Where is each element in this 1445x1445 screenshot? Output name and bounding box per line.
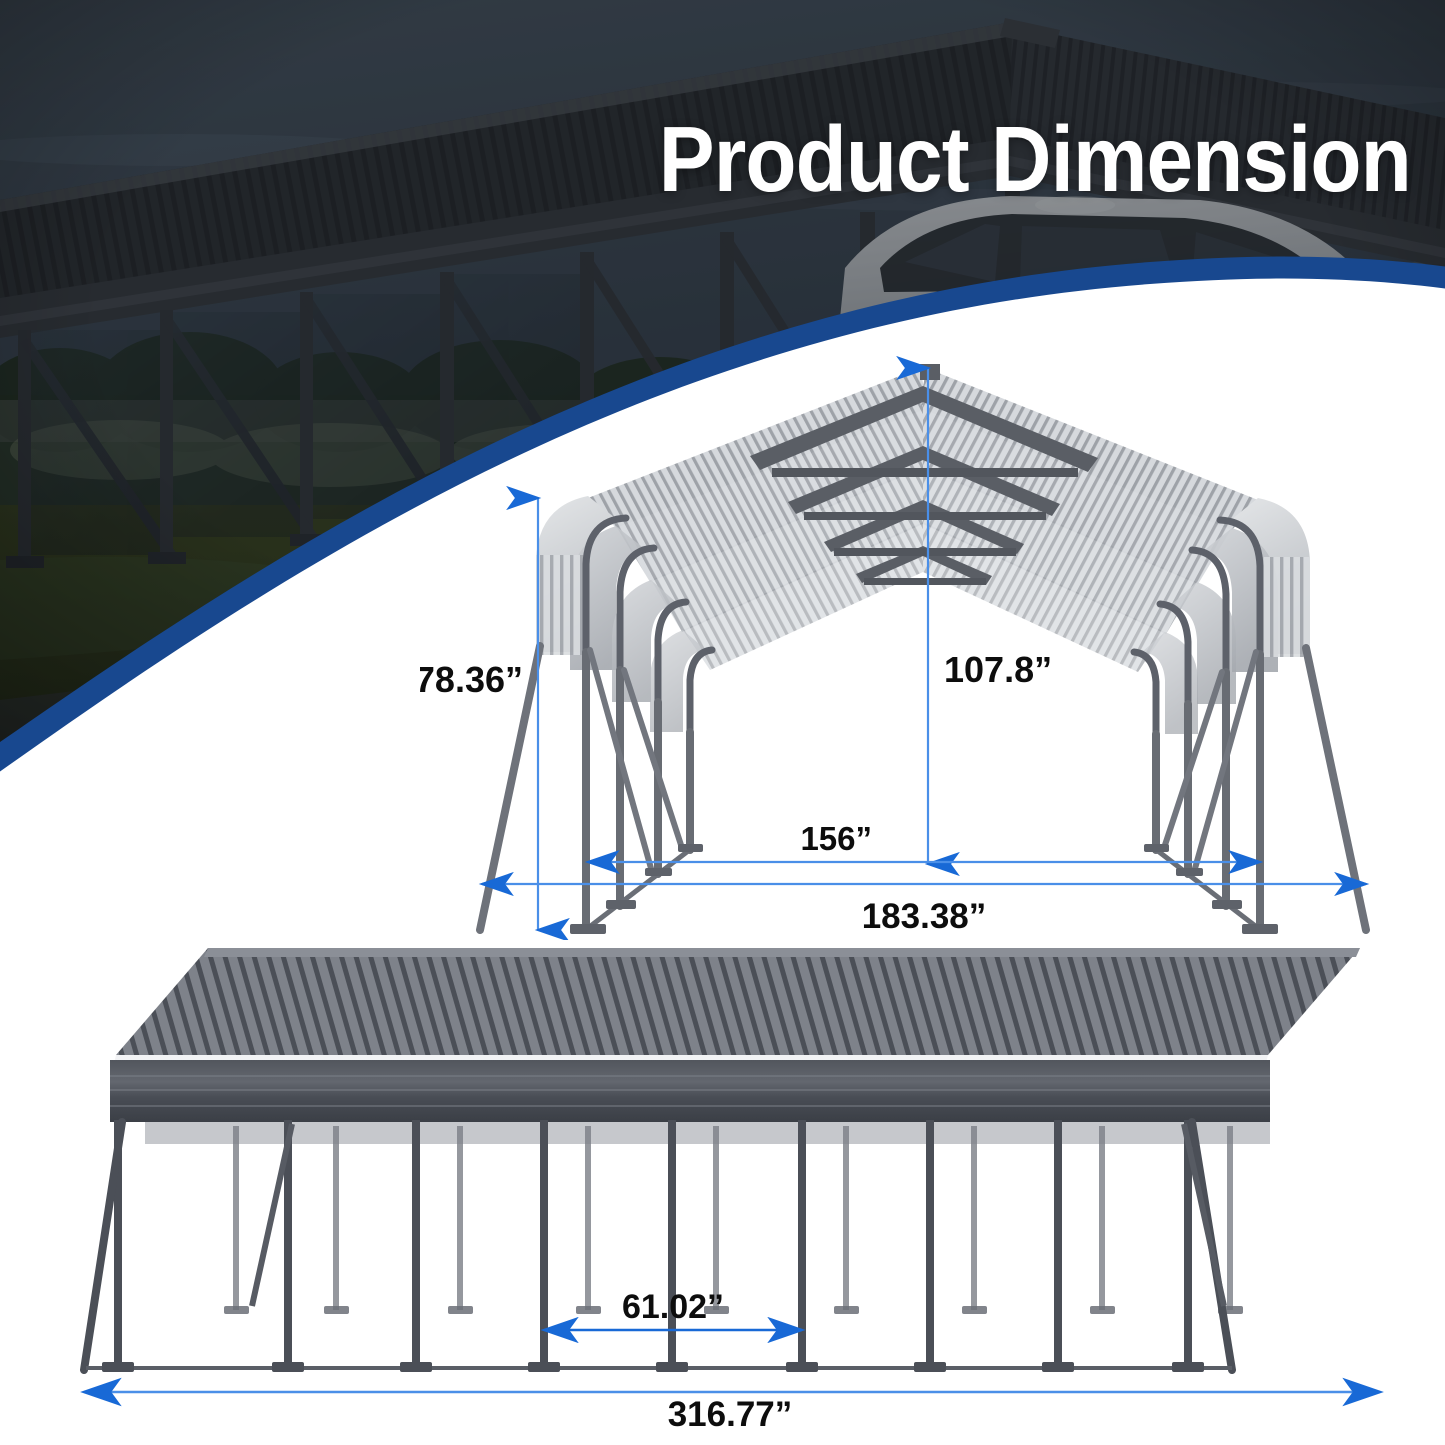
dimension-label-inner-width: 156” (800, 820, 872, 857)
page-title: Product Dimension (145, 112, 1445, 207)
dimension-total-length: 316.77” (84, 1392, 1380, 1430)
dimension-label-side-height: 78.36” (420, 659, 523, 700)
diagram-side-elevation: 61.02” 316.77” (40, 930, 1430, 1430)
product-dimension-infographic: Product Dimension (0, 0, 1445, 1445)
dimension-label-leg-spacing: 61.02” (622, 1288, 724, 1326)
diagram-front-elevation: 78.36” 107.8” 156” 183.38” (420, 350, 1445, 940)
dimension-label-total-length: 316.77” (668, 1395, 793, 1430)
dimension-side-height: 78.36” (420, 498, 538, 930)
dimension-label-peak-height: 107.8” (944, 649, 1052, 690)
